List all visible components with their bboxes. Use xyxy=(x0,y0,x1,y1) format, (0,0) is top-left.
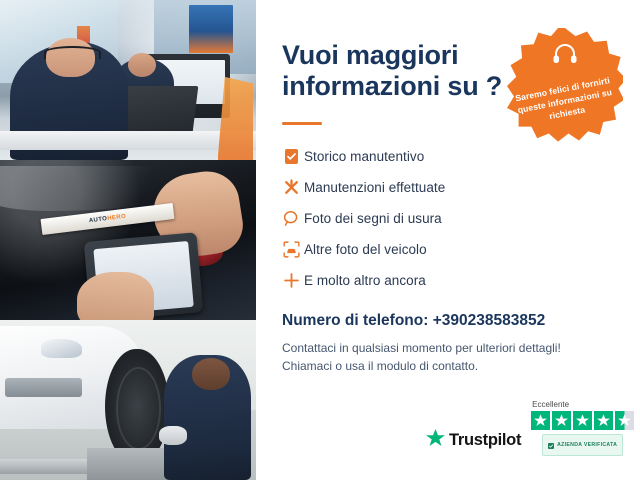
content-panel: Vuoi maggiori informazioni su ? Saremo f… xyxy=(256,0,640,480)
star-5-half xyxy=(615,411,634,430)
page-title-line-1: Vuoi maggiori xyxy=(282,40,532,71)
desk-surface xyxy=(0,131,256,150)
tools-cross-icon xyxy=(278,179,304,196)
trustpilot-rating-block: Eccellente AZIENDA VERIFICATA xyxy=(531,400,634,456)
trustpilot-star-icon xyxy=(426,429,445,452)
page-title: Vuoi maggiori informazioni su ? xyxy=(282,40,532,103)
front-agent-headset xyxy=(44,46,102,59)
feature-item-manutenzioni: Manutenzioni effettuate xyxy=(278,173,538,201)
plus-icon xyxy=(278,272,304,289)
feature-list: Storico manutentivo Manutenzioni effettu… xyxy=(278,142,538,297)
star-rating xyxy=(531,411,634,430)
title-divider xyxy=(282,122,322,125)
trustpilot-name: Trustpilot xyxy=(449,431,521,450)
feature-label: Manutenzioni effettuate xyxy=(304,180,445,195)
star-1 xyxy=(531,411,550,430)
feature-label: Storico manutentivo xyxy=(304,149,424,164)
photo-column: AUTOHERO xyxy=(0,0,256,480)
headset-icon xyxy=(552,44,578,69)
photo-scan-car-icon xyxy=(278,241,304,258)
feature-label: Foto dei segni di usura xyxy=(304,211,442,226)
call-center-agents-photo xyxy=(0,0,256,160)
feature-item-altro: E molto altro ancora xyxy=(278,266,538,294)
page-title-line-2: informazioni su ? xyxy=(282,71,532,102)
magnifier-icon xyxy=(278,210,304,227)
trustpilot-logo: Trustpilot xyxy=(426,429,521,456)
autohero-brand: AUTOHERO xyxy=(89,214,127,225)
verified-badge-icon xyxy=(548,436,554,454)
car-inspection-ruler-photo: AUTOHERO xyxy=(0,160,256,320)
mechanic-glove xyxy=(159,426,187,445)
contact-subtext: Contattaci in qualsiasi momento per ulte… xyxy=(282,339,561,375)
star-3 xyxy=(573,411,592,430)
front-grille xyxy=(5,378,82,397)
verified-company-badge: AZIENDA VERIFICATA xyxy=(542,434,623,456)
second-agent-head xyxy=(128,53,156,77)
star-2 xyxy=(552,411,571,430)
rating-label: Eccellente xyxy=(532,400,569,409)
phone-number-line[interactable]: Numero di telefono: +390238583852 xyxy=(282,312,545,330)
contact-subtext-line-2: Chiamaci o usa il modulo di contatto. xyxy=(282,357,561,375)
verified-label: AZIENDA VERIFICATA xyxy=(557,442,617,448)
promo-banner: AUTOHERO Vuoi maggiori informazioni su ? xyxy=(0,0,640,480)
front-wheel xyxy=(105,349,169,464)
feature-item-altre-foto: Altre foto del veicolo xyxy=(278,235,538,263)
checklist-icon xyxy=(278,148,304,165)
request-info-badge: Saremo felici di fornirti queste informa… xyxy=(507,28,623,144)
feature-label: E molto altro ancora xyxy=(304,273,426,288)
mechanic-head xyxy=(192,358,230,390)
technician-hand-2 xyxy=(77,272,154,320)
wall-poster xyxy=(189,5,233,53)
trustpilot-widget[interactable]: Trustpilot Eccellente AZIENDA VERIFICATA xyxy=(426,400,634,456)
feature-label: Altre foto del veicolo xyxy=(304,242,427,257)
feature-item-usura: Foto dei segni di usura xyxy=(278,204,538,232)
mechanic-wheel-inspection-photo xyxy=(0,320,256,480)
headlight xyxy=(41,339,82,358)
feature-item-storico: Storico manutentivo xyxy=(278,142,538,170)
contact-subtext-line-1: Contattaci in qualsiasi momento per ulte… xyxy=(282,339,561,357)
star-4 xyxy=(594,411,613,430)
